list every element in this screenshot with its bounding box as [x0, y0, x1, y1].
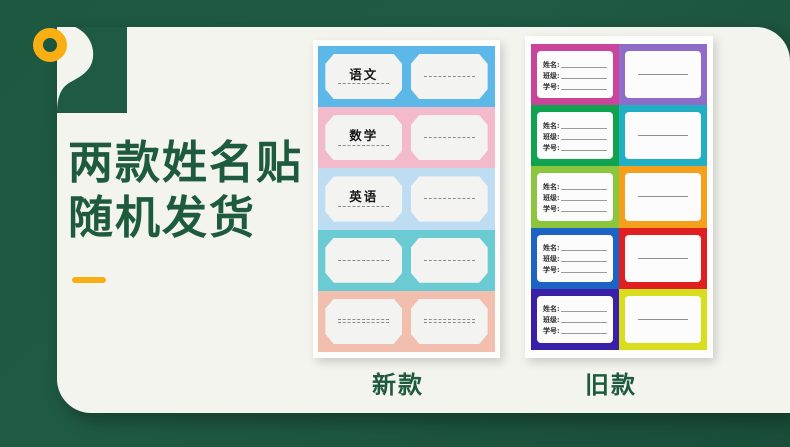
label-field-rule [561, 82, 607, 90]
label-field-name: 学号: [543, 205, 560, 212]
label-field-rule [561, 304, 607, 312]
sticker-label[interactable]: 姓名:班级:学号: [531, 44, 619, 105]
label-field-name: 姓名: [543, 244, 560, 251]
sticker-label-face [625, 173, 701, 220]
label-field-name: 姓名: [543, 305, 560, 312]
sticker-label-face [625, 296, 701, 343]
sticker-label[interactable] [619, 228, 707, 289]
write-line [638, 319, 688, 320]
label-field-rule [561, 326, 607, 334]
label-field-name: 学号: [543, 144, 560, 151]
write-line [424, 137, 475, 138]
sticker-sheet-old-style[interactable]: 姓名:班级:学号:姓名:班级:学号:姓名:班级:学号:姓名:班级:学号:姓名:班… [525, 36, 713, 358]
write-line [338, 322, 389, 323]
label-field: 班级: [543, 71, 607, 79]
label-field: 学号: [543, 204, 607, 212]
write-line [424, 198, 475, 199]
label-field-name: 姓名: [543, 122, 560, 129]
card-corner-notch [57, 27, 127, 113]
sticker-label[interactable] [411, 54, 488, 99]
write-line [424, 260, 475, 261]
sticker-label[interactable] [619, 289, 707, 350]
sticker-band [318, 230, 495, 291]
write-line [638, 258, 688, 259]
label-field-name: 班级: [543, 133, 560, 140]
label-field: 姓名: [543, 243, 607, 251]
sticker-band [318, 291, 495, 352]
label-field-name: 班级: [543, 194, 560, 201]
sticker-label[interactable]: 姓名:班级:学号: [531, 166, 619, 227]
sticker-label[interactable]: 姓名:班级:学号: [531, 289, 619, 350]
label-field-name: 姓名: [543, 61, 560, 68]
sticker-label[interactable] [411, 176, 488, 221]
label-field-rule [561, 204, 607, 212]
sticker-band: 数学 [318, 107, 495, 168]
write-line [424, 76, 475, 77]
label-field-rule [561, 254, 607, 262]
sticker-label[interactable] [411, 299, 488, 344]
ring-icon [33, 28, 67, 62]
write-line [638, 196, 688, 197]
sticker-subject-text: 英语 [349, 191, 378, 204]
label-field-rule [561, 71, 607, 79]
label-field-rule [561, 143, 607, 151]
label-field: 学号: [543, 143, 607, 151]
sticker-label[interactable]: 姓名:班级:学号: [531, 105, 619, 166]
sticker-label[interactable] [619, 44, 707, 105]
write-line [338, 206, 389, 207]
sticker-subject-text: 语文 [349, 69, 378, 82]
label-field-rule [561, 132, 607, 140]
caption-new-style: 新款 [372, 365, 424, 400]
label-field-rule [561, 265, 607, 273]
write-line [338, 319, 389, 320]
label-field: 姓名: [543, 60, 607, 68]
caption-old-style: 旧款 [585, 365, 637, 400]
label-field-rule [561, 182, 607, 190]
sticker-label[interactable] [411, 238, 488, 283]
label-field-name: 班级: [543, 72, 560, 79]
label-field-rule [561, 315, 607, 323]
label-field: 姓名: [543, 304, 607, 312]
label-field-name: 学号: [543, 327, 560, 334]
label-field-name: 学号: [543, 83, 560, 90]
sticker-label-face: 姓名:班级:学号: [537, 235, 613, 282]
label-field-name: 班级: [543, 255, 560, 262]
write-line [338, 145, 389, 146]
label-field: 班级: [543, 315, 607, 323]
sticker-label-face: 姓名:班级:学号: [537, 112, 613, 159]
sticker-band: 语文 [318, 46, 495, 107]
label-field-rule [561, 121, 607, 129]
label-field: 班级: [543, 132, 607, 140]
write-line [424, 322, 475, 323]
sticker-label-face: 姓名:班级:学号: [537, 51, 613, 98]
sticker-label[interactable] [411, 115, 488, 160]
sticker-label[interactable]: 英语 [325, 176, 402, 221]
sticker-label-face: 姓名:班级:学号: [537, 296, 613, 343]
label-field-name: 学号: [543, 266, 560, 273]
promo-banner: 两款姓名贴 随机发货 语文数学英语 姓名:班级:学号:姓名:班级:学号:姓名:班… [0, 0, 790, 447]
sticker-label[interactable] [619, 105, 707, 166]
sticker-label[interactable] [619, 166, 707, 227]
sticker-subject-text: 数学 [349, 130, 378, 143]
sticker-label-face: 姓名:班级:学号: [537, 173, 613, 220]
sticker-label[interactable]: 语文 [325, 54, 402, 99]
label-field: 学号: [543, 82, 607, 90]
write-line [638, 135, 688, 136]
label-field-name: 姓名: [543, 183, 560, 190]
sticker-band: 英语 [318, 168, 495, 229]
sticker-label[interactable] [325, 299, 402, 344]
sticker-label-face [625, 112, 701, 159]
headline-line-1: 两款姓名贴 [68, 137, 303, 188]
sticker-label[interactable]: 数学 [325, 115, 402, 160]
sticker-label-face [625, 235, 701, 282]
label-field: 姓名: [543, 121, 607, 129]
label-field-rule [561, 243, 607, 251]
sticker-label-face [625, 51, 701, 98]
sticker-label[interactable] [325, 238, 402, 283]
page-title: 两款姓名贴 随机发货 [68, 136, 303, 246]
label-field: 班级: [543, 254, 607, 262]
label-field: 姓名: [543, 182, 607, 190]
label-field-rule [561, 193, 607, 201]
label-field: 学号: [543, 265, 607, 273]
label-field-rule [561, 60, 607, 68]
write-line [638, 74, 688, 75]
sticker-sheet-new-style[interactable]: 语文数学英语 [313, 40, 500, 358]
label-field: 学号: [543, 326, 607, 334]
label-field: 班级: [543, 193, 607, 201]
accent-bar [72, 277, 106, 283]
headline-line-2: 随机发货 [68, 191, 303, 246]
label-field-name: 班级: [543, 316, 560, 323]
write-line [338, 260, 389, 261]
sticker-label[interactable]: 姓名:班级:学号: [531, 228, 619, 289]
write-line [338, 83, 389, 84]
write-line [424, 319, 475, 320]
